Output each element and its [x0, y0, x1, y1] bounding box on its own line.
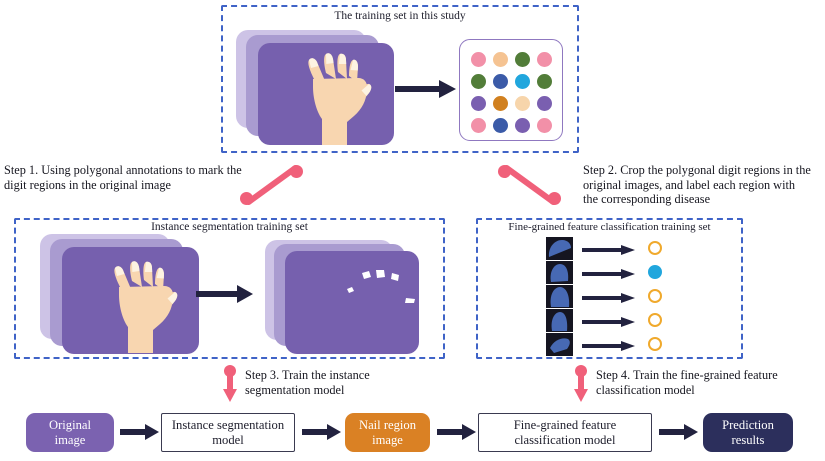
flow-arrow-1 — [120, 424, 160, 440]
row-3-label-ring — [648, 289, 662, 303]
step3-line-2: segmentation model — [245, 383, 425, 398]
right-panel-rows — [476, 236, 743, 358]
dot-r3c1 — [471, 96, 486, 111]
nail-crop-1 — [546, 237, 573, 260]
flow-node-nail-region-image[interactable]: Nail region image — [345, 413, 430, 452]
step3-text: Step 3. Train the instance segmentation … — [245, 368, 425, 397]
dot-r3c4 — [537, 96, 552, 111]
flow-node-original-image-label: Original image — [49, 418, 91, 448]
row-1-arrow-right — [582, 245, 636, 255]
top-hand-image-stack — [236, 30, 396, 145]
step2-pink-connector — [490, 160, 570, 210]
hand-illustration — [98, 256, 184, 354]
step2-line-1: Step 2. Crop the polygonal digit regions… — [583, 163, 825, 178]
step2-connector-dot-bottom — [548, 192, 561, 205]
dot-r4c2 — [493, 118, 508, 133]
row-4-label-ring — [648, 313, 662, 327]
step1-pink-connector — [232, 160, 312, 210]
nail-crop-5 — [546, 333, 573, 356]
step4-line-2: classification model — [596, 383, 825, 398]
nail-crop-3 — [546, 285, 573, 308]
row-3-arrow-right — [582, 293, 636, 303]
dot-r2c3 — [515, 74, 530, 89]
step2-text: Step 2. Crop the polygonal digit regions… — [583, 163, 825, 207]
dot-r4c1 — [471, 118, 486, 133]
row-5-arrow-right — [582, 341, 636, 351]
dot-r3c3 — [515, 96, 530, 111]
step2-line-3: the corresponding disease — [583, 192, 825, 207]
flow-node-instance-segmentation-model-label: Instance segmentation model — [172, 418, 284, 448]
dot-r1c1 — [471, 52, 486, 67]
flow-node-prediction-results[interactable]: Prediction results — [703, 413, 793, 452]
flow-node-prediction-results-label: Prediction results — [722, 418, 774, 448]
step4-text: Step 4. Train the fine-grained feature c… — [596, 368, 825, 397]
left-panel-hand-image-stack — [40, 234, 200, 354]
top-panel-arrow-right — [395, 79, 457, 99]
dot-r2c2 — [493, 74, 508, 89]
flow-node-fine-grained-classification-model-label: Fine-grained feature classification mode… — [514, 418, 616, 448]
hand-illustration — [292, 49, 378, 145]
row-4-arrow-right — [582, 317, 636, 327]
dot-r1c4 — [537, 52, 552, 67]
nail-crop-4 — [546, 309, 573, 332]
top-panel-title: The training set in this study — [221, 10, 579, 22]
step3-line-1: Step 3. Train the instance — [245, 368, 425, 383]
left-panel-segmented-mask-stack — [265, 240, 425, 355]
segmented-nail-blobs — [285, 251, 419, 354]
flow-arrow-4 — [659, 424, 699, 440]
flow-node-instance-segmentation-model[interactable]: Instance segmentation model — [161, 413, 295, 452]
label-dot-grid — [459, 39, 563, 141]
step1-connector-dot-top — [290, 165, 303, 178]
flow-arrow-3 — [437, 424, 477, 440]
step4-line-1: Step 4. Train the fine-grained feature — [596, 368, 825, 383]
flow-node-nail-region-image-label: Nail region image — [359, 418, 416, 448]
dot-r1c3 — [515, 52, 530, 67]
nail-crop-2 — [546, 261, 573, 284]
row-2-label-ring — [648, 265, 662, 279]
dot-r4c4 — [537, 118, 552, 133]
step3-down-arrow — [222, 365, 238, 403]
step4-down-arrow — [573, 365, 589, 403]
dot-r3c2 — [493, 96, 508, 111]
dot-r2c4 — [537, 74, 552, 89]
right-panel-title: Fine-grained feature classification trai… — [476, 221, 743, 233]
left-panel-title: Instance segmentation training set — [14, 221, 445, 233]
flow-node-fine-grained-classification-model[interactable]: Fine-grained feature classification mode… — [478, 413, 652, 452]
row-2-arrow-right — [582, 269, 636, 279]
dot-r2c1 — [471, 74, 486, 89]
step1-connector-dot-bottom — [240, 192, 253, 205]
row-1-label-ring — [648, 241, 662, 255]
left-panel-arrow-right — [196, 285, 254, 303]
flow-node-original-image[interactable]: Original image — [26, 413, 114, 452]
flow-arrow-2 — [302, 424, 342, 440]
dot-r4c3 — [515, 118, 530, 133]
step2-line-2: original images, and label each region w… — [583, 178, 825, 193]
dot-r1c2 — [493, 52, 508, 67]
step2-connector-dot-top — [498, 165, 511, 178]
row-5-label-ring — [648, 337, 662, 351]
